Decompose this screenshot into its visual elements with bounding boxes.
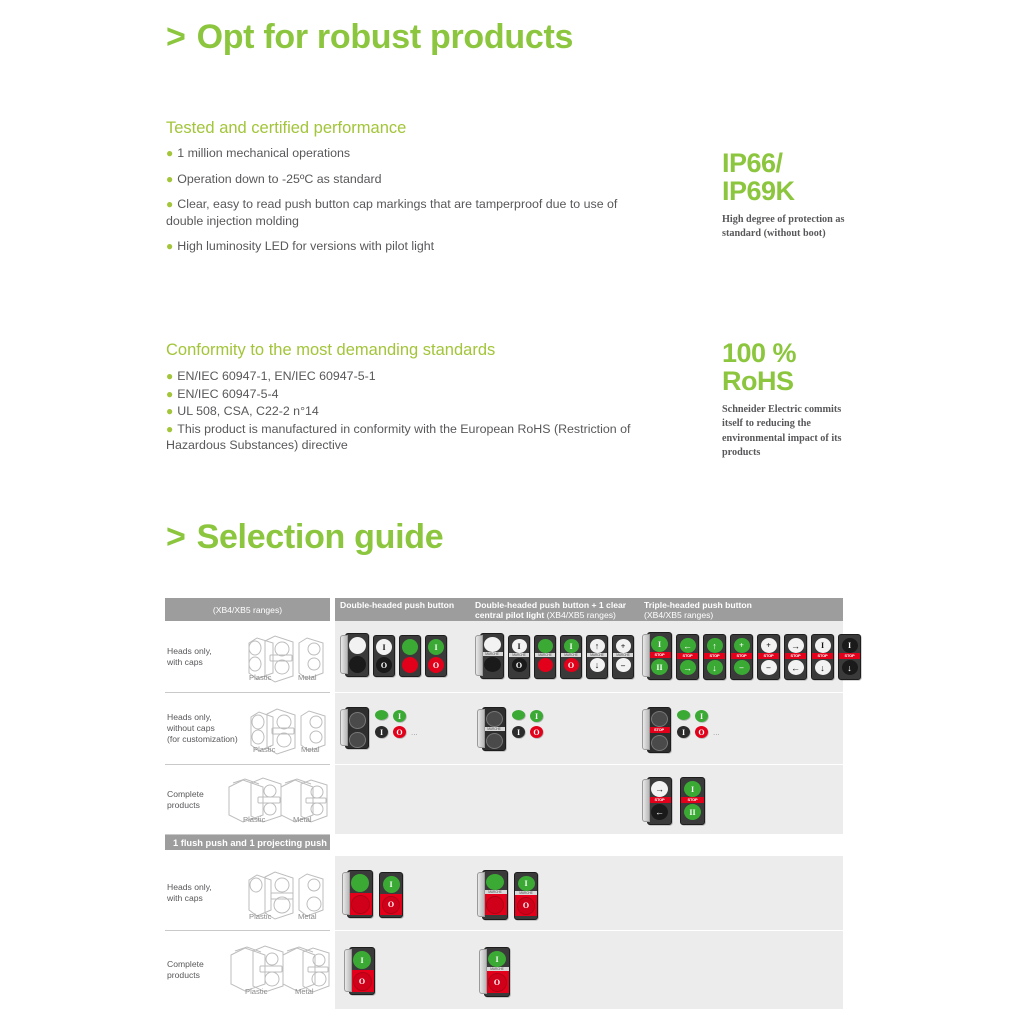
section-heading-robust: >Opt for robust products [166,18,573,57]
list-item: ●UL 508, CSA, C22-2 n°14 [166,403,636,420]
stop-band: STOP [647,797,672,803]
list-item-text: Operation down to -25ºC as standard [177,172,381,186]
ellipsis-text: ... [411,728,418,737]
push-button-unit: ↑ MARCHE ↓ [586,635,608,679]
row-label-cell: Heads only,with caps Plastic Metal [165,621,330,693]
push-button-unit: + STOP – [757,634,780,680]
push-button-unit: I STOP ↓ [811,634,834,680]
row-label-cell: Completeproducts Plast [165,931,330,1009]
push-button-unit: ← STOP → [676,634,699,680]
bullet-icon: ● [166,387,173,401]
badge-rohs: 100 % RoHS Schneider Electric commits it… [722,340,850,461]
bullet-icon: ● [166,369,173,383]
material-label-metal: Metal [301,745,320,754]
cell-triple-headed-heads-caps: I STOP II ← STOP → ↑ [639,621,843,693]
bullet-icon: ● [166,239,173,253]
stop-band: STOP [703,653,726,659]
table-row: Heads only,without caps(for customizatio… [165,693,843,765]
section-banner: 1 flush push and 1 projecting push [165,835,330,850]
push-button-unit: I O [379,872,403,918]
cell-double-headed-pilot-heads-nocaps: MARCHE I I O [470,693,639,765]
stop-band: STOP [811,653,834,659]
loose-cap-green [677,710,690,720]
cell-triple-headed-complete-flush [639,931,843,1009]
table-header-title: Double-headed push button [340,600,454,610]
section-heading-selection: >Selection guide [166,518,443,557]
table-header-double-headed-pilot: Double-headed push button + 1 clear cent… [470,598,639,621]
material-label-plastic: Plastic [243,815,265,824]
cell-double-headed-heads-caps: I O I O [335,621,470,693]
row-label: Heads only,with caps [167,645,247,667]
stop-band: STOP [757,653,780,659]
stop-band: STOP [730,653,753,659]
table-header-ranges: (XB4/XB5 ranges) [165,598,330,621]
cell-double-headed-complete-flush: I O [335,931,470,1009]
table-row: Heads only,with caps Plastic Metal [165,856,843,931]
push-button-unit: I MARCHE O [560,635,582,679]
ellipsis-text: ... [713,728,720,737]
material-label-plastic: Plastic [249,673,271,682]
loose-cap-black-on: I [677,726,690,738]
list-item-text: 1 million mechanical operations [177,146,350,160]
material-label-plastic: Plastic [249,912,271,921]
table-header-subtitle: (XB4/XB5 ranges) [547,610,616,620]
stop-band: STOP [647,727,671,733]
row-label-cell: Heads only,without caps(for customizatio… [165,693,330,765]
pilot-light-band: MARCHE [587,653,607,657]
row-label: Heads only,with caps [167,882,247,904]
cell-double-headed-complete [335,765,470,835]
badge-ip-rating: IP66/ IP69K High degree of protection as… [722,150,857,242]
table-header-triple-headed: Triple-headed push button (XB4/XB5 range… [639,598,843,621]
table-row: Completeproducts Plast [165,931,843,1009]
section-heading-robust-text: Opt for robust products [197,18,574,56]
material-label-plastic: Plastic [253,745,275,754]
push-button-unit: MARCHE [480,633,504,679]
stop-band: STOP [676,653,699,659]
cell-double-headed-pilot-complete-flush: I MARCHE O [470,931,639,1009]
table-header-title: Triple-headed push button [644,600,752,610]
stop-band: STOP [680,797,705,803]
chevron-icon: > [166,518,186,556]
lineart-complete-flush-projecting [225,939,333,997]
row-label-cell: Completeproducts Plast [165,765,330,835]
section-heading-selection-text: Selection guide [197,518,444,556]
cell-double-headed-pilot-flush-projecting-heads: MARCHE I MARCHE O [470,856,639,931]
badge-caption: High degree of protection as standard (w… [722,213,857,242]
stop-band: STOP [784,653,807,659]
bullet-icon: ● [166,197,173,211]
subheading-conformity: Conformity to the most demanding standar… [166,341,495,360]
loose-cap-red-off: O [530,726,543,738]
cell-triple-headed-complete: → STOP ← I STOP II [639,765,843,835]
subheading-tested-performance: Tested and certified performance [166,119,406,138]
push-button-unit: I STOP ↓ [838,634,861,680]
stop-band: STOP [647,652,672,658]
cell-double-headed-heads-nocaps: I I O ... [335,693,470,765]
push-button-unit: I STOP II [647,632,672,680]
list-tested-performance: ●1 million mechanical operations ●Operat… [166,145,636,264]
table-header-subtitle: (XB4/XB5 ranges) [644,610,713,620]
pilot-light-band: MARCHE [613,653,633,657]
push-button-unit: + MARCHE – [612,635,634,679]
bullet-icon: ● [166,146,173,160]
list-conformity: ●EN/IEC 60947-1, EN/IEC 60947-5-1 ●EN/IE… [166,368,636,455]
loose-cap-black-on: I [512,726,525,738]
push-button-unit [345,633,369,677]
catalog-page: >Opt for robust products Tested and cert… [0,0,1024,1024]
bullet-icon: ● [166,404,173,418]
push-button-unit-bare [345,707,369,749]
loose-cap-green-on: I [393,710,406,722]
list-item-text: High luminosity LED for versions with pi… [177,239,434,253]
pilot-light-band: MARCHE [481,652,503,656]
push-button-unit: MARCHE [482,870,508,920]
push-button-unit: I MARCHE O [514,872,538,920]
material-label-metal: Metal [293,815,312,824]
banner-cell: 1 flush push and 1 projecting push [165,835,330,850]
material-label-plastic: Plastic [245,987,267,996]
bullet-icon: ● [166,422,173,436]
bullet-icon: ● [166,172,173,186]
push-button-unit: → STOP ← [647,777,672,825]
loose-cap-green-on: I [530,710,543,722]
table-row: Completeproducts Plast [165,765,843,835]
pilot-light-band: MARCHE [535,653,555,657]
push-button-unit-bare: STOP [647,707,671,753]
push-button-unit: I MARCHE O [484,947,510,997]
loose-cap-green [512,710,525,720]
pilot-light-band: MARCHE [483,727,505,731]
list-item: ●EN/IEC 60947-1, EN/IEC 60947-5-1 [166,368,636,385]
table-banner-row: 1 flush push and 1 projecting push [165,835,843,856]
list-item: ●High luminosity LED for versions with p… [166,238,636,255]
push-button-unit: ↑ STOP ↓ [703,634,726,680]
loose-cap-black-on: I [375,726,388,738]
push-button-unit: → STOP ← [784,634,807,680]
list-item: ●EN/IEC 60947-5-4 [166,386,636,403]
row-label-cell: Heads only,with caps Plastic Metal [165,856,330,931]
pilot-light-band: MARCHE [509,653,529,657]
list-item-text: EN/IEC 60947-5-4 [177,387,278,401]
cell-triple-headed-flush-projecting-heads [639,856,843,931]
badge-caption: Schneider Electric commits itself to red… [722,403,850,461]
push-button-unit: MARCHE [534,635,556,679]
badge-line-2: IP69K [722,178,857,206]
push-button-unit: + STOP – [730,634,753,680]
list-item: ●This product is manufactured in conform… [166,421,636,454]
chevron-icon: > [166,18,186,56]
table-header-row: (XB4/XB5 ranges) Double-headed push butt… [165,598,843,621]
list-item: ●Clear, easy to read push button cap mar… [166,196,636,229]
loose-cap-red-off: O [393,726,406,738]
list-item-text: This product is manufactured in conformi… [166,422,630,453]
table-row: Heads only,with caps Plastic Metal [165,621,843,693]
list-item-text: Clear, easy to read push button cap mark… [166,197,617,228]
cell-double-headed-flush-projecting-heads: I O [335,856,470,931]
loose-cap-green-on: I [695,710,708,722]
pilot-light-band: MARCHE [561,653,581,657]
badge-line-2: RoHS [722,368,850,396]
list-item: ●1 million mechanical operations [166,145,636,162]
material-label-metal: Metal [295,987,314,996]
cell-triple-headed-heads-nocaps: STOP I I O ... [639,693,843,765]
push-button-unit [347,870,373,918]
push-button-unit [399,635,421,677]
loose-cap-green [375,710,388,720]
cell-double-headed-pilot-complete [470,765,639,835]
loose-cap-red-off: O [695,726,708,738]
list-item: ●Operation down to -25ºC as standard [166,171,636,188]
push-button-unit-bare: MARCHE [482,707,506,751]
cell-double-headed-pilot-heads-caps: MARCHE I MARCHE O [470,621,639,693]
badge-line-1: IP66/ [722,150,857,178]
material-label-metal: Metal [298,912,317,921]
push-button-unit: I O [349,947,375,995]
badge-line-1: 100 % [722,340,850,368]
push-button-unit: I O [373,635,395,677]
push-button-unit: I O [425,635,447,677]
list-item-text: EN/IEC 60947-1, EN/IEC 60947-5-1 [177,369,375,383]
list-item-text: UL 508, CSA, C22-2 n°14 [177,404,319,418]
stop-band: STOP [838,653,861,659]
selection-guide-table: (XB4/XB5 ranges) Double-headed push butt… [165,598,843,1009]
table-header-double-headed: Double-headed push button [335,598,470,621]
lineart-complete-products [223,773,331,825]
push-button-unit: I STOP II [680,777,705,825]
push-button-unit: I MARCHE O [508,635,530,679]
material-label-metal: Metal [298,673,317,682]
